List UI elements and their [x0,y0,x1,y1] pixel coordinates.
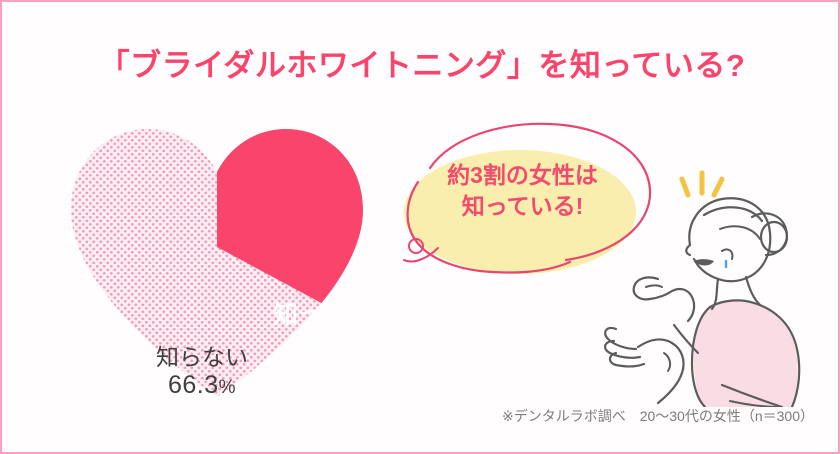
heart-pie-chart: 知っている 33.7% 知らない 66.3% [57,114,387,409]
sparkle-icon [682,173,722,195]
hairline [704,207,762,221]
outfit-fill [694,300,798,407]
nose [686,245,690,255]
infographic-canvas: 「ブライダルホワイトニング」を知っている? [0,0,840,454]
page-title: 「ブライダルホワイトニング」を知っている? [2,40,840,85]
head-outline [689,198,770,281]
open-hand-thumb [605,328,636,349]
pointing-woman-illustration [602,157,840,407]
open-hand [638,340,684,403]
ear [722,249,732,259]
pointing-hand [634,277,694,321]
footnote-source: ※デンタルラボ調べ 20〜30代の女性（n＝300） [2,406,814,426]
